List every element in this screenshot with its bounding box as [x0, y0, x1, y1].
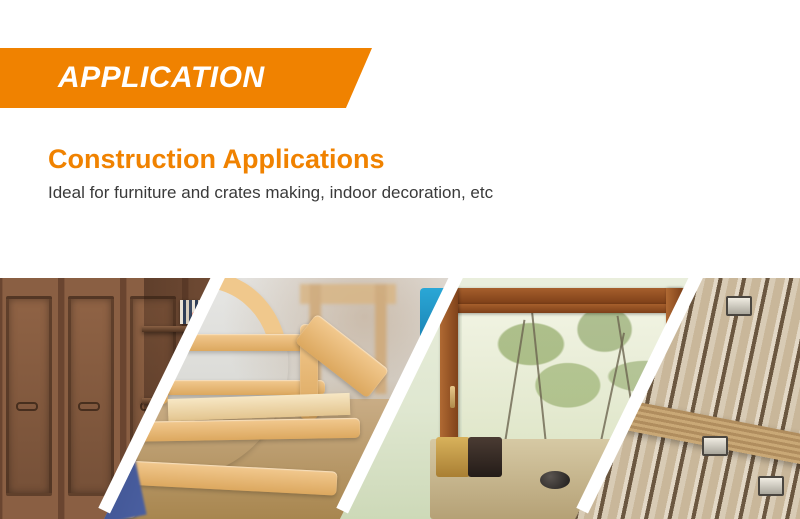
application-gallery-strip: [0, 278, 800, 519]
application-ribbon-banner: APPLICATION: [0, 48, 372, 108]
section-text-block: Construction Applications Ideal for furn…: [48, 144, 748, 204]
page-title: Construction Applications: [48, 144, 748, 175]
ribbon-label: APPLICATION: [58, 63, 265, 93]
application-section: APPLICATION Construction Applications Id…: [0, 0, 800, 519]
page-subtitle: Ideal for furniture and crates making, i…: [48, 182, 748, 204]
